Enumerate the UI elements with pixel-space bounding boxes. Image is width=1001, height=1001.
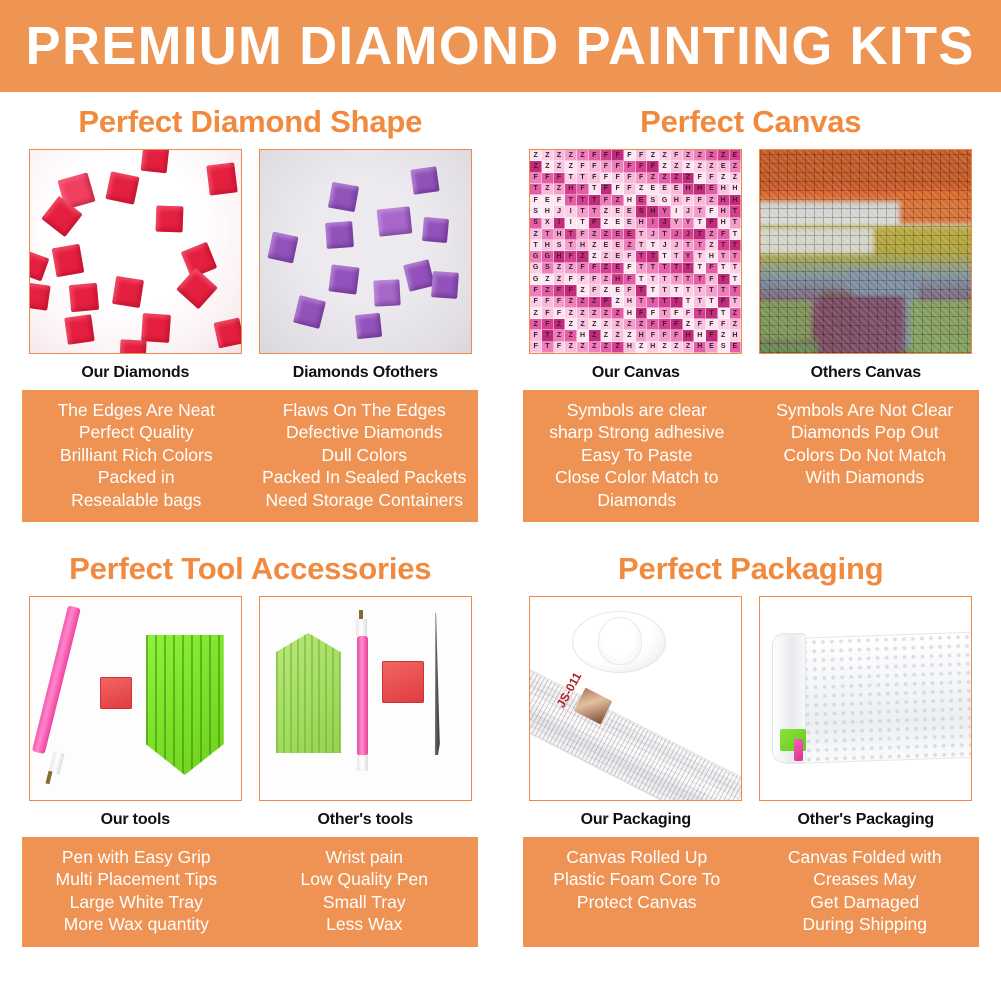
canvas-symbol-cell: Z: [612, 330, 624, 341]
canvas-symbol-cell: J: [671, 229, 683, 240]
canvas-symbol-cell: I: [647, 218, 659, 229]
other-pen-barrel: [357, 636, 368, 756]
canvas-symbol-cell: Z: [671, 173, 683, 184]
large-green-tray: [146, 635, 224, 775]
canvas-symbol-cell: Z: [589, 330, 601, 341]
canvas-symbol-cell: F: [636, 161, 648, 172]
canvas-symbol-cell: T: [718, 240, 730, 251]
canvas-symbol-cell: F: [636, 150, 648, 161]
canvas-symbol-cell: T: [718, 251, 730, 262]
canvas-symbol-cell: T: [683, 285, 695, 296]
canvas-symbol-cell: T: [671, 274, 683, 285]
canvas-symbol-cell: T: [694, 308, 706, 319]
canvas-symbol-cell: F: [577, 229, 589, 240]
canvas-symbol-cell: T: [718, 308, 730, 319]
canvas-symbol-cell: T: [542, 229, 554, 240]
canvas-symbol-cell: J: [671, 240, 683, 251]
banner-line: Close Color Match to: [526, 466, 748, 488]
canvas-symbol-cell: F: [706, 330, 718, 341]
canvas-symbol-cell: S: [636, 206, 648, 217]
section-title-diamond-shape: Perfect Diamond Shape: [0, 92, 501, 149]
canvas-symbol-cell: Z: [589, 229, 601, 240]
canvas-symbol-cell: Z: [601, 330, 613, 341]
canvas-symbol-cell: H: [612, 274, 624, 285]
canvas-symbol-cell: I: [671, 206, 683, 217]
banner-line: Need Storage Containers: [253, 489, 475, 511]
canvas-symbol-cell: F: [624, 173, 636, 184]
canvas-symbol-cell: T: [730, 240, 742, 251]
canvas-symbol-cell: T: [694, 206, 706, 217]
banner-line: Low Quality Pen: [253, 868, 475, 890]
banner-ours-diamond-shape: The Edges Are NeatPerfect QualityBrillia…: [22, 399, 250, 511]
caption-other-diamonds: Diamonds Ofothers: [259, 354, 472, 390]
canvas-symbol-cell: F: [577, 184, 589, 195]
canvas-symbol-cell: T: [530, 184, 542, 195]
canvas-symbol-cell: T: [683, 240, 695, 251]
banner-line: sharp Strong adhesive: [526, 421, 748, 443]
canvas-symbol-cell: F: [589, 173, 601, 184]
canvas-symbol-cell: H: [718, 206, 730, 217]
canvas-symbol-cell: T: [730, 229, 742, 240]
canvas-symbol-cell: Z: [577, 319, 589, 330]
canvas-symbol-cell: T: [671, 263, 683, 274]
image-card-our-diamonds: Our Diamonds: [29, 149, 242, 390]
canvas-symbol-cell: Z: [542, 274, 554, 285]
section-tool-accessories: Perfect Tool Accessories: [0, 539, 501, 947]
canvas-symbol-cell: F: [694, 319, 706, 330]
canvas-symbol-cell: T: [647, 251, 659, 262]
canvas-symbol-cell: G: [530, 251, 542, 262]
pink-pen-peeking: [794, 739, 803, 761]
canvas-symbol-cell: H: [730, 184, 742, 195]
canvas-symbol-cell: F: [542, 319, 554, 330]
canvas-symbol-cell: F: [624, 285, 636, 296]
canvas-symbol-cell: H: [636, 218, 648, 229]
canvas-symbol-cell: Z: [636, 319, 648, 330]
canvas-symbol-cell: Z: [542, 184, 554, 195]
canvas-symbol-cell: T: [718, 263, 730, 274]
banner-line: During Shipping: [754, 913, 976, 935]
canvas-symbol-cell: Z: [565, 297, 577, 308]
canvas-symbol-cell: E: [624, 218, 636, 229]
canvas-symbol-cell: T: [659, 297, 671, 308]
canvas-symbol-cell: T: [577, 218, 589, 229]
canvas-symbol-cell: F: [577, 263, 589, 274]
banner-line: Get Damaged: [754, 891, 976, 913]
banner-line: Brilliant Rich Colors: [25, 444, 247, 466]
canvas-symbol-cell: Z: [601, 319, 613, 330]
canvas-symbol-cell: T: [647, 297, 659, 308]
clear-tube-art: JS-011: [530, 597, 741, 800]
canvas-symbol-cell: H: [647, 206, 659, 217]
canvas-symbol-cell: T: [671, 285, 683, 296]
canvas-symbol-cell: Z: [554, 274, 566, 285]
canvas-symbol-cell: T: [577, 173, 589, 184]
canvas-symbol-cell: Z: [554, 184, 566, 195]
canvas-symbol-cell: T: [636, 274, 648, 285]
canvas-symbol-cell: F: [718, 229, 730, 240]
canvas-symbol-cell: Z: [542, 161, 554, 172]
canvas-symbol-cell: F: [554, 342, 566, 353]
canvas-symbol-cell: Z: [671, 161, 683, 172]
canvas-symbol-cell: Z: [601, 218, 613, 229]
canvas-symbol-cell: T: [565, 195, 577, 206]
banner-line: Dull Colors: [253, 444, 475, 466]
canvas-symbol-cell: Z: [647, 150, 659, 161]
banner-line: Canvas Folded with: [754, 846, 976, 868]
symbol-grid-canvas-art: ZZZZZFFFFFZZFZZZZEZZZZFFFFFFFZZZZZEZFFFT…: [530, 150, 741, 353]
canvas-symbol-cell: Z: [636, 184, 648, 195]
section-canvas: Perfect Canvas ZZZZZFFFFFZZFZZZZEZZZZFFF…: [501, 92, 1001, 522]
canvas-symbol-cell: T: [636, 251, 648, 262]
canvas-symbol-cell: Z: [636, 342, 648, 353]
canvas-symbol-cell: H: [683, 330, 695, 341]
pen-needle: [45, 771, 52, 785]
canvas-symbol-cell: H: [694, 330, 706, 341]
our-tools-art: [30, 597, 241, 800]
photo-other-packaging: [759, 596, 972, 801]
canvas-symbol-cell: Z: [601, 274, 613, 285]
canvas-symbol-cell: G: [659, 195, 671, 206]
canvas-symbol-cell: Z: [706, 195, 718, 206]
canvas-symbol-cell: T: [683, 274, 695, 285]
canvas-symbol-cell: H: [624, 308, 636, 319]
canvas-symbol-cell: T: [694, 274, 706, 285]
canvas-symbol-cell: T: [565, 173, 577, 184]
canvas-symbol-cell: Z: [565, 330, 577, 341]
canvas-symbol-cell: F: [589, 263, 601, 274]
canvas-symbol-cell: E: [612, 240, 624, 251]
canvas-symbol-cell: E: [542, 195, 554, 206]
photo-other-diamonds: [259, 149, 472, 354]
canvas-symbol-cell: J: [683, 229, 695, 240]
canvas-symbol-cell: J: [647, 229, 659, 240]
canvas-symbol-cell: S: [647, 195, 659, 206]
canvas-symbol-cell: Z: [601, 263, 613, 274]
canvas-symbol-cell: F: [624, 184, 636, 195]
canvas-symbol-cell: E: [730, 342, 742, 353]
canvas-symbol-cell: Z: [565, 150, 577, 161]
page-title: PREMIUM DIAMOND PAINTING KITS: [26, 19, 975, 73]
canvas-symbol-cell: F: [706, 218, 718, 229]
canvas-symbol-cell: T: [589, 206, 601, 217]
canvas-symbol-cell: T: [706, 297, 718, 308]
canvas-symbol-cell: G: [542, 251, 554, 262]
canvas-symbol-cell: F: [694, 173, 706, 184]
banner-line: Easy To Paste: [526, 444, 748, 466]
canvas-symbol-cell: H: [730, 195, 742, 206]
canvas-symbol-cell: T: [542, 330, 554, 341]
canvas-symbol-cell: Z: [577, 285, 589, 296]
canvas-symbol-cell: Z: [565, 263, 577, 274]
canvas-symbol-cell: Z: [647, 173, 659, 184]
purple-diamonds-scatter-art: [260, 150, 471, 353]
canvas-symbol-cell: T: [636, 297, 648, 308]
canvas-symbol-cell: F: [530, 330, 542, 341]
canvas-symbol-cell: T: [577, 195, 589, 206]
canvas-symbol-cell: T: [671, 297, 683, 308]
section-packaging: Perfect Packaging JS-011: [501, 539, 1001, 947]
canvas-symbol-cell: Z: [554, 330, 566, 341]
canvas-symbol-cell: T: [694, 229, 706, 240]
canvas-symbol-cell: Z: [624, 240, 636, 251]
blurry-color-canvas-art: [760, 150, 971, 353]
canvas-symbol-cell: S: [530, 218, 542, 229]
canvas-symbol-cell: Z: [577, 150, 589, 161]
image-card-our-canvas: ZZZZZFFFFFZZFZZZZEZZZZFFFFFFFZZZZZEZFFFT…: [529, 149, 742, 390]
other-tools-art: [260, 597, 471, 800]
banner-line: Diamonds Pop Out: [754, 421, 976, 443]
canvas-symbol-cell: E: [612, 229, 624, 240]
canvas-symbol-cell: Z: [601, 251, 613, 262]
canvas-symbol-cell: F: [542, 297, 554, 308]
banner-ours-packaging: Canvas Rolled UpPlastic Foam Core ToProt…: [523, 846, 751, 936]
canvas-symbol-cell: F: [706, 274, 718, 285]
canvas-symbol-cell: E: [659, 184, 671, 195]
canvas-symbol-cell: F: [530, 342, 542, 353]
canvas-symbol-cell: F: [636, 173, 648, 184]
canvas-symbol-cell: F: [601, 184, 613, 195]
banner-line: With Diamonds: [754, 466, 976, 488]
canvas-symbol-cell: Z: [659, 150, 671, 161]
canvas-symbol-cell: H: [706, 251, 718, 262]
banner-line: Defective Diamonds: [253, 421, 475, 443]
canvas-symbol-cell: F: [647, 161, 659, 172]
canvas-symbol-cell: Z: [565, 342, 577, 353]
banner-line: Packed In Sealed Packets: [253, 466, 475, 488]
canvas-symbol-cell: H: [694, 184, 706, 195]
canvas-symbol-cell: Y: [683, 251, 695, 262]
canvas-symbol-cell: Y: [671, 218, 683, 229]
canvas-symbol-cell: Z: [542, 285, 554, 296]
canvas-symbol-cell: F: [565, 274, 577, 285]
canvas-symbol-cell: Z: [589, 251, 601, 262]
photo-other-tools: [259, 596, 472, 801]
canvas-symbol-cell: Z: [683, 173, 695, 184]
canvas-symbol-cell: T: [694, 285, 706, 296]
canvas-symbol-cell: F: [612, 150, 624, 161]
banner-line: Small Tray: [253, 891, 475, 913]
canvas-symbol-cell: T: [694, 297, 706, 308]
canvas-symbol-cell: T: [683, 263, 695, 274]
canvas-symbol-cell: F: [589, 161, 601, 172]
canvas-symbol-cell: F: [612, 184, 624, 195]
canvas-symbol-cell: T: [730, 285, 742, 296]
banner-line: Less Wax: [253, 913, 475, 935]
canvas-symbol-cell: I: [565, 218, 577, 229]
canvas-symbol-cell: T: [589, 184, 601, 195]
caption-others-canvas: Others Canvas: [759, 354, 972, 390]
section-title-tool-accessories: Perfect Tool Accessories: [0, 539, 501, 596]
canvas-symbol-cell: H: [577, 240, 589, 251]
canvas-symbol-cell: J: [659, 218, 671, 229]
canvas-symbol-cell: Z: [577, 342, 589, 353]
canvas-symbol-cell: Z: [589, 342, 601, 353]
canvas-symbol-cell: F: [706, 319, 718, 330]
banner-theirs-packaging: Canvas Folded withCreases MayGet Damaged…: [751, 846, 979, 936]
canvas-symbol-cell: Z: [542, 150, 554, 161]
canvas-symbol-cell: H: [636, 330, 648, 341]
banner-theirs-canvas: Symbols Are Not ClearDiamonds Pop OutCol…: [751, 399, 979, 511]
banner-line: Wrist pain: [253, 846, 475, 868]
canvas-symbol-cell: T: [730, 274, 742, 285]
canvas-symbol-cell: Z: [706, 150, 718, 161]
canvas-symbol-cell: F: [601, 195, 613, 206]
canvas-symbol-cell: H: [718, 218, 730, 229]
canvas-symbol-cell: H: [542, 240, 554, 251]
canvas-symbol-cell: T: [659, 251, 671, 262]
canvas-symbol-cell: F: [706, 263, 718, 274]
canvas-symbol-cell: Z: [706, 240, 718, 251]
canvas-symbol-cell: S: [542, 263, 554, 274]
pink-pen-barrel: [32, 605, 81, 754]
canvas-symbol-cell: E: [612, 263, 624, 274]
banner-line: Creases May: [754, 868, 976, 890]
canvas-symbol-cell: F: [530, 297, 542, 308]
canvas-symbol-cell: F: [542, 308, 554, 319]
canvas-symbol-cell: H: [718, 195, 730, 206]
canvas-symbol-cell: Z: [730, 161, 742, 172]
canvas-symbol-cell: T: [636, 263, 648, 274]
canvas-symbol-cell: F: [530, 195, 542, 206]
canvas-symbol-cell: E: [671, 184, 683, 195]
canvas-symbol-cell: F: [718, 319, 730, 330]
banner-packaging: Canvas Rolled UpPlastic Foam Core ToProt…: [523, 837, 979, 947]
banner-line: Pen with Easy Grip: [25, 846, 247, 868]
canvas-symbol-cell: F: [706, 173, 718, 184]
canvas-symbol-cell: Z: [612, 297, 624, 308]
canvas-symbol-cell: E: [636, 195, 648, 206]
canvas-symbol-cell: T: [659, 263, 671, 274]
canvas-symbol-cell: Z: [577, 308, 589, 319]
canvas-symbol-cell: E: [706, 184, 718, 195]
canvas-symbol-cell: Z: [706, 161, 718, 172]
canvas-symbol-cell: T: [577, 206, 589, 217]
tweezers: [432, 613, 440, 755]
canvas-symbol-cell: Z: [589, 308, 601, 319]
comparison-board: Perfect Diamond Shape: [0, 92, 1001, 947]
banner-line: Symbols Are Not Clear: [754, 399, 976, 421]
canvas-symbol-cell: Z: [683, 342, 695, 353]
caption-our-canvas: Our Canvas: [529, 354, 742, 390]
canvas-symbol-cell: F: [694, 195, 706, 206]
canvas-symbol-cell: F: [647, 319, 659, 330]
banner-line: Colors Do Not Match: [754, 444, 976, 466]
canvas-symbol-cell: Z: [530, 229, 542, 240]
canvas-symbol-cell: F: [624, 263, 636, 274]
red-diamonds-scatter-art: [30, 150, 241, 353]
banner-line: Canvas Rolled Up: [526, 846, 748, 868]
canvas-symbol-cell: Z: [554, 150, 566, 161]
canvas-symbol-cell: F: [612, 173, 624, 184]
canvas-symbol-cell: F: [683, 308, 695, 319]
canvas-symbol-cell: Z: [577, 251, 589, 262]
canvas-symbol-cell: Z: [612, 319, 624, 330]
canvas-symbol-cell: E: [624, 229, 636, 240]
canvas-symbol-cell: F: [647, 308, 659, 319]
canvas-symbol-cell: Z: [601, 285, 613, 296]
image-card-other-diamonds: Diamonds Ofothers: [259, 149, 472, 390]
canvas-symbol-cell: F: [671, 308, 683, 319]
canvas-symbol-cell: H: [683, 184, 695, 195]
wax-square: [100, 677, 132, 709]
canvas-symbol-cell: T: [647, 285, 659, 296]
canvas-symbol-cell: Z: [624, 330, 636, 341]
canvas-symbol-cell: F: [589, 218, 601, 229]
canvas-symbol-cell: Z: [706, 229, 718, 240]
canvas-symbol-cell: F: [636, 308, 648, 319]
banner-ours-tools: Pen with Easy GripMulti Placement TipsLa…: [22, 846, 250, 936]
canvas-symbol-cell: F: [624, 150, 636, 161]
canvas-symbol-cell: Z: [530, 308, 542, 319]
canvas-symbol-cell: F: [589, 274, 601, 285]
canvas-symbol-cell: Z: [601, 229, 613, 240]
canvas-symbol-cell: E: [624, 206, 636, 217]
canvas-symbol-cell: T: [730, 297, 742, 308]
caption-our-diamonds: Our Diamonds: [29, 354, 242, 390]
canvas-symbol-cell: S: [530, 206, 542, 217]
canvas-symbol-cell: Z: [671, 342, 683, 353]
canvas-symbol-cell: F: [671, 150, 683, 161]
other-wax-square: [382, 661, 424, 703]
canvas-symbol-cell: Z: [624, 319, 636, 330]
caption-our-packaging: Our Packaging: [529, 801, 742, 837]
section-diamond-shape: Perfect Diamond Shape: [0, 92, 501, 522]
canvas-symbol-cell: I: [554, 218, 566, 229]
canvas-symbol-cell: T: [647, 263, 659, 274]
canvas-symbol-cell: F: [659, 330, 671, 341]
canvas-symbol-cell: Z: [683, 161, 695, 172]
canvas-symbol-cell: E: [718, 161, 730, 172]
canvas-symbol-cell: Y: [683, 218, 695, 229]
canvas-symbol-cell: F: [706, 206, 718, 217]
canvas-symbol-cell: E: [647, 184, 659, 195]
canvas-symbol-cell: Z: [577, 297, 589, 308]
canvas-symbol-cell: H: [554, 251, 566, 262]
photo-our-canvas: ZZZZZFFFFFZZFZZZZEZZZZFFFFFFFZZZZZEZFFFT…: [529, 149, 742, 354]
image-card-other-packaging: Other's Packaging: [759, 596, 972, 837]
banner-line: Resealable bags: [25, 489, 247, 511]
banner-line: Diamonds: [526, 489, 748, 511]
banner-line: Packed in: [25, 466, 247, 488]
canvas-symbol-cell: F: [624, 161, 636, 172]
canvas-symbol-cell: Z: [601, 206, 613, 217]
caption-our-tools: Our tools: [29, 801, 242, 837]
small-green-tray: [276, 633, 341, 753]
canvas-symbol-cell: H: [577, 330, 589, 341]
canvas-symbol-cell: T: [659, 285, 671, 296]
canvas-symbol-cell: Z: [718, 150, 730, 161]
banner-canvas: Symbols are clearsharp Strong adhesiveEa…: [523, 390, 979, 522]
canvas-symbol-cell: Z: [565, 319, 577, 330]
canvas-symbol-cell: F: [647, 330, 659, 341]
banner-line: Protect Canvas: [526, 891, 748, 913]
photo-our-diamonds: [29, 149, 242, 354]
canvas-symbol-cell: T: [694, 251, 706, 262]
canvas-symbol-cell: H: [671, 195, 683, 206]
canvas-symbol-cell: H: [554, 229, 566, 240]
canvas-symbol-cell: F: [671, 330, 683, 341]
canvas-symbol-cell: Z: [730, 319, 742, 330]
canvas-symbol-cell: T: [565, 229, 577, 240]
canvas-symbol-cell: Z: [730, 173, 742, 184]
canvas-symbol-cell: Z: [612, 308, 624, 319]
canvas-symbol-cell: G: [530, 263, 542, 274]
canvas-symbol-cell: Z: [554, 319, 566, 330]
canvas-symbol-cell: T: [647, 240, 659, 251]
canvas-symbol-cell: F: [577, 161, 589, 172]
canvas-symbol-cell: Z: [659, 161, 671, 172]
